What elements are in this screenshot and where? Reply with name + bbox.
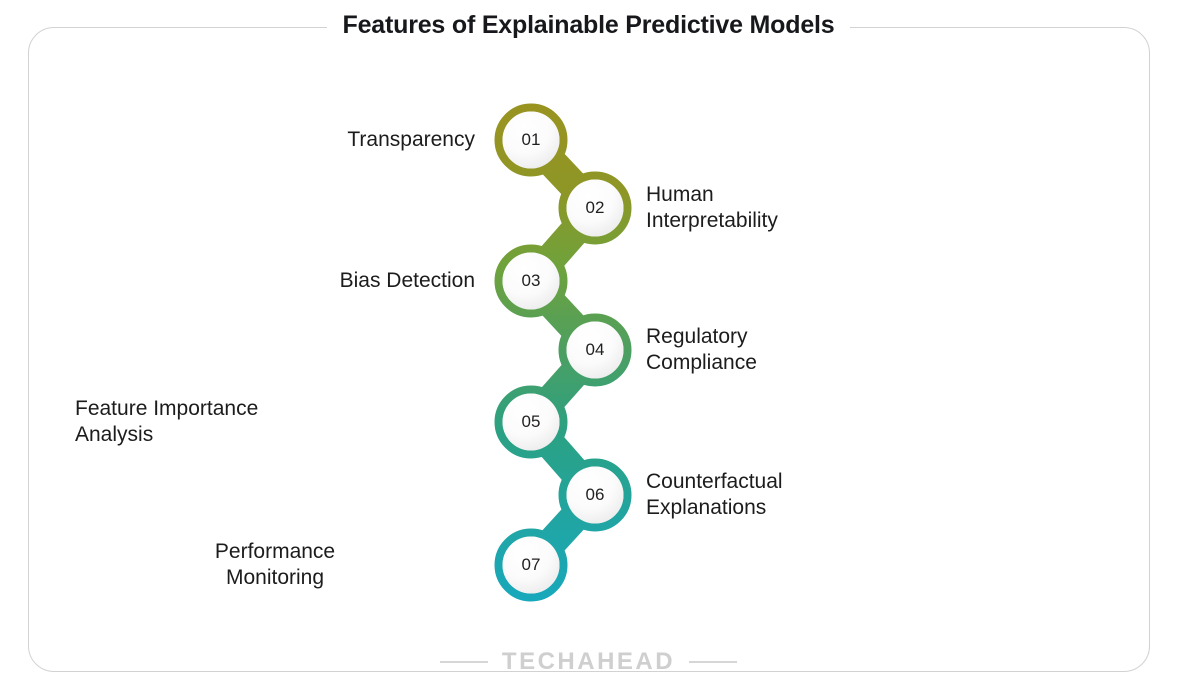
step-number-01: 01	[500, 127, 562, 153]
feature-label-bias-detection: Bias Detection	[75, 268, 475, 294]
infographic-canvas: Features of Explainable Predictive Model…	[0, 0, 1177, 700]
feature-label-feature-importance-analysis: Feature Importance Analysis	[75, 396, 475, 448]
feature-label-transparency: Transparency	[75, 127, 475, 153]
step-number-04: 04	[564, 337, 626, 363]
feature-label-regulatory-compliance: Regulatory Compliance	[646, 324, 1046, 376]
footer-rule-left	[440, 661, 488, 663]
footer-brand: TECHAHEAD	[502, 648, 675, 676]
feature-label-performance-monitoring: Performance Monitoring	[75, 539, 475, 591]
page-title: Features of Explainable Predictive Model…	[327, 8, 851, 42]
footer-brand-container: TECHAHEAD	[0, 648, 1177, 676]
footer-rule-right	[689, 661, 737, 663]
step-number-05: 05	[500, 409, 562, 435]
feature-label-counterfactual-explanations: Counterfactual Explanations	[646, 469, 1046, 521]
step-number-07: 07	[500, 552, 562, 578]
page-title-container: Features of Explainable Predictive Model…	[0, 8, 1177, 42]
feature-label-human-interpretability: Human Interpretability	[646, 182, 1046, 234]
step-number-06: 06	[564, 482, 626, 508]
step-number-03: 03	[500, 268, 562, 294]
step-number-02: 02	[564, 195, 626, 221]
